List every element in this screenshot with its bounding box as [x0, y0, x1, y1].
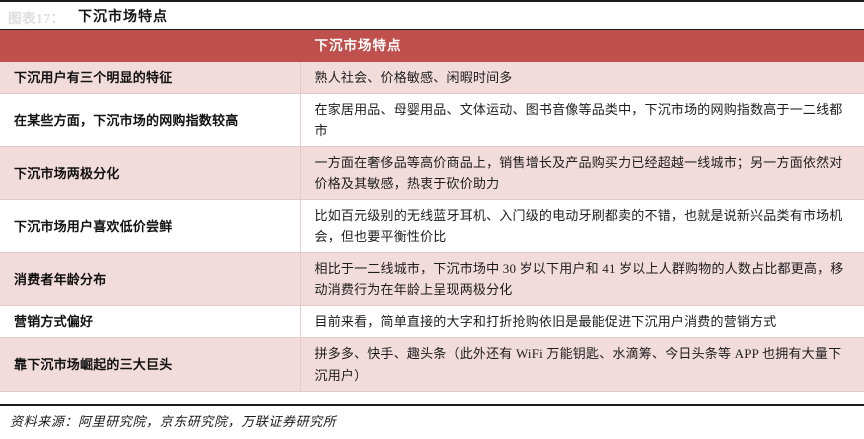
table-row: 靠下沉市场崛起的三大巨头 拼多多、快手、趣头条（此外还有 WiFi 万能钥匙、水…: [0, 338, 864, 391]
figure-caption-area: 图表17： 下沉市场特点: [0, 0, 864, 30]
row-key: 下沉用户有三个明显的特征: [0, 62, 300, 94]
table-row: 营销方式偏好 目前来看，简单直接的大字和打折抢购依旧是最能促进下沉用户消费的营销…: [0, 306, 864, 338]
row-key: 在某些方面，下沉市场的网购指数较高: [0, 94, 300, 147]
table-header-row: 下沉市场特点: [0, 30, 864, 62]
sinking-market-table: 下沉市场特点 下沉用户有三个明显的特征 熟人社会、价格敏感、闲暇时间多 在某些方…: [0, 30, 864, 392]
table-row: 下沉市场两极分化 一方面在奢侈品等高价商品上，销售增长及产品购买力已经超越一线城…: [0, 147, 864, 200]
figure-number-watermark: 图表17：: [8, 7, 65, 27]
figure-title: 下沉市场特点: [78, 6, 168, 26]
row-value: 拼多多、快手、趣头条（此外还有 WiFi 万能钥匙、水滴筹、今日头条等 APP …: [300, 338, 864, 391]
row-key: 下沉市场两极分化: [0, 147, 300, 200]
source-note: 资料来源：阿里研究院，京东研究院，万联证券研究所: [10, 411, 336, 430]
table-container: 下沉市场特点 下沉用户有三个明显的特征 熟人社会、价格敏感、闲暇时间多 在某些方…: [0, 29, 864, 392]
row-key: 靠下沉市场崛起的三大巨头: [0, 338, 300, 391]
row-value: 一方面在奢侈品等高价商品上，销售增长及产品购买力已经超越一线城市；另一方面依然对…: [300, 147, 864, 200]
table-row: 下沉市场用户喜欢低价尝鲜 比如百元级别的无线蓝牙耳机、入门级的电动牙刷都卖的不错…: [0, 200, 864, 253]
row-key: 下沉市场用户喜欢低价尝鲜: [0, 200, 300, 253]
row-key: 消费者年龄分布: [0, 253, 300, 306]
source-divider: [0, 404, 864, 406]
row-key: 营销方式偏好: [0, 306, 300, 338]
row-value: 熟人社会、价格敏感、闲暇时间多: [300, 62, 864, 94]
table-row: 在某些方面，下沉市场的网购指数较高 在家居用品、母婴用品、文体运动、图书音像等品…: [0, 94, 864, 147]
figure-page: 图表17： 下沉市场特点 下沉市场特点 下沉用户有三个明显的特征 熟人社会、价格…: [0, 0, 864, 439]
table-row: 下沉用户有三个明显的特征 熟人社会、价格敏感、闲暇时间多: [0, 62, 864, 94]
column-header-characteristics: 下沉市场特点: [300, 30, 864, 62]
row-value: 相比于一二线城市，下沉市场中 30 岁以下用户和 41 岁以上人群购物的人数占比…: [300, 253, 864, 306]
column-header-category: [0, 30, 300, 62]
row-value: 目前来看，简单直接的大字和打折抢购依旧是最能促进下沉用户消费的营销方式: [300, 306, 864, 338]
row-value: 比如百元级别的无线蓝牙耳机、入门级的电动牙刷都卖的不错，也就是说新兴品类有市场机…: [300, 200, 864, 253]
row-value: 在家居用品、母婴用品、文体运动、图书音像等品类中，下沉市场的网购指数高于一二线都…: [300, 94, 864, 147]
table-row: 消费者年龄分布 相比于一二线城市，下沉市场中 30 岁以下用户和 41 岁以上人…: [0, 253, 864, 306]
